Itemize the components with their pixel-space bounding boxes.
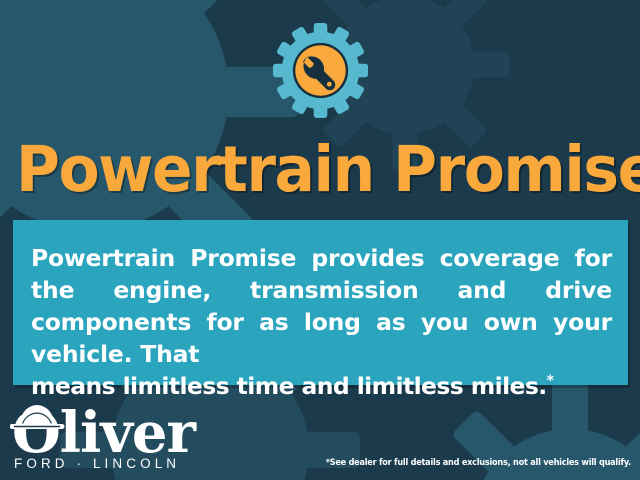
powertrain-promise-poster: Powertrain Promise Powertrain Promise pr… (0, 0, 640, 480)
disclaimer-text: *See dealer for full details and exclusi… (326, 458, 631, 469)
coverage-description-panel: Powertrain Promise provides coverage for… (13, 220, 628, 385)
footnote-asterisk: * (547, 373, 554, 389)
page-title: Powertrain Promise (16, 132, 624, 208)
gear-wrench-icon (272, 22, 369, 119)
oliver-ford-lincoln-logo: Oliver FORD · LINCOLN (10, 396, 210, 472)
logo-tagline: FORD · LINCOLN (14, 456, 180, 471)
coverage-description-text: Powertrain Promise provides coverage for… (31, 242, 612, 402)
